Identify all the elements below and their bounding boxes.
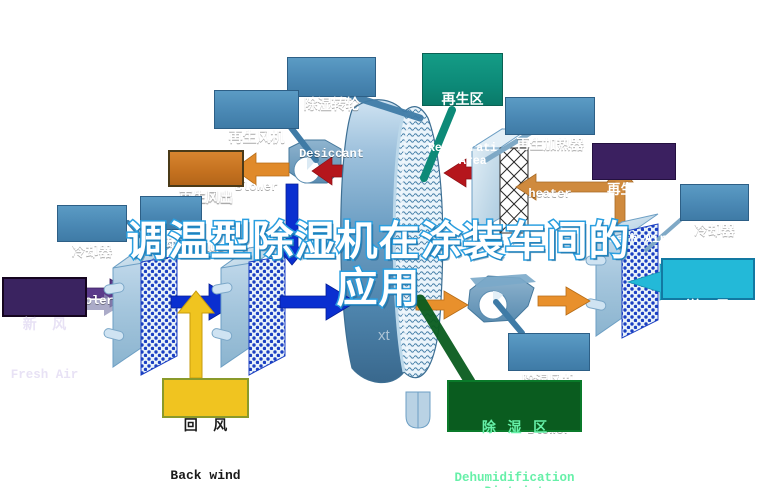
label-dehumidification-district-cn: 除 湿 区 bbox=[449, 420, 580, 436]
label-cooler-left-2: 冷却器 bbox=[140, 196, 202, 230]
label-regeneration-heater: 再生加热器 heater bbox=[505, 97, 595, 135]
label-dehumidification-district-en: Dehumidification District bbox=[449, 471, 580, 488]
label-regeneration-heater-en: heater bbox=[506, 188, 594, 201]
label-cooler-left-2-cn: 冷却器 bbox=[141, 235, 201, 250]
label-back-wind-cn: 回 风 bbox=[164, 418, 247, 434]
label-cooler-right-cn: 冷却器 bbox=[681, 223, 748, 238]
label-cooler-right: 冷却器 Cooler bbox=[680, 184, 749, 221]
watermark-text: xt bbox=[378, 327, 391, 344]
label-dehumidification-blower: 除湿风机 Blower bbox=[508, 333, 590, 371]
label-desiccant: 除湿转轮 Desiccant bbox=[287, 57, 376, 97]
label-regeneration-area-cn: 再生区 bbox=[423, 92, 502, 108]
label-regeneration-area-en: Regenerati on Area bbox=[423, 143, 502, 169]
label-cooler-left-1: 冷却器 Cooler bbox=[57, 205, 127, 242]
label-back-wind-en: Back wind bbox=[164, 469, 247, 484]
label-regeneration-blower: 再生风机 Blower bbox=[214, 90, 299, 129]
label-fresh-air-main: 新 风 Fresh Air bbox=[2, 277, 87, 317]
label-desiccant-cn: 除湿转轮 bbox=[288, 97, 375, 113]
label-air-supply-en: Air Supply bbox=[663, 350, 753, 365]
label-regeneration-area: 再生区 Regenerati on Area bbox=[422, 53, 503, 106]
label-air-supply-cn: 送 风 bbox=[663, 299, 753, 315]
label-regeneration-blower-cn: 再生风机 bbox=[215, 130, 298, 146]
label-air-supply: 送 风 Air Supply bbox=[661, 258, 755, 300]
blower-to-coil-arrow bbox=[538, 287, 590, 315]
label-fresh-air-main-en: Fresh Air bbox=[4, 368, 85, 382]
label-fresh-air-regeneration: 再生风进 Fresh Air bbox=[592, 143, 676, 180]
label-dehumidification-district: 除 湿 区 Dehumidification District bbox=[447, 380, 582, 432]
dehumidification-blower-unit bbox=[468, 274, 536, 322]
label-fresh-air-main-cn: 新 风 bbox=[4, 317, 85, 333]
label-fresh-air-regeneration-en: Fresh Air bbox=[593, 233, 675, 246]
label-fresh-air-regeneration-cn: 再生风进 bbox=[593, 182, 675, 197]
diagram-canvas: xt 除湿转轮 Desiccant 再生风机 Blower 再生区 Regene… bbox=[0, 0, 757, 488]
label-cooler-left-1-cn: 冷却器 bbox=[58, 244, 126, 259]
label-desiccant-en: Desiccant bbox=[288, 148, 375, 161]
label-regeneration-heater-cn: 再生加热器 bbox=[506, 137, 594, 152]
label-back-wind: 回 风 Back wind bbox=[162, 378, 249, 418]
label-exhaust: 再生风出 Exhaust bbox=[168, 150, 244, 187]
